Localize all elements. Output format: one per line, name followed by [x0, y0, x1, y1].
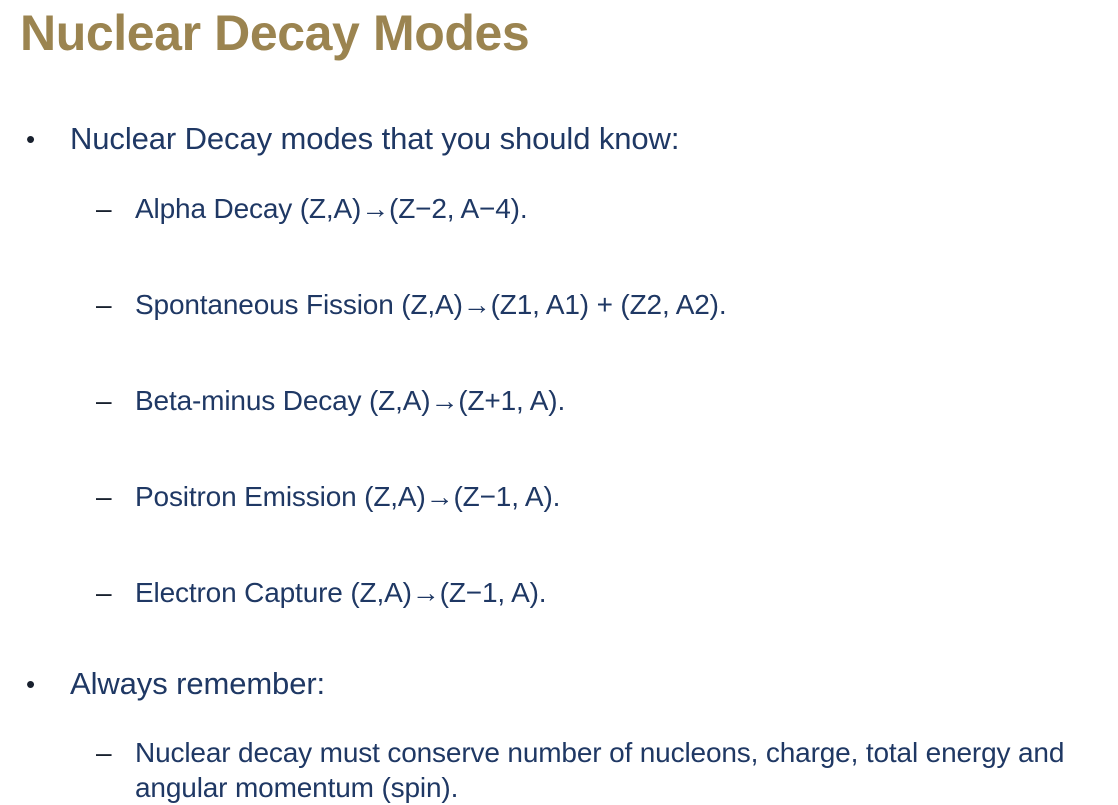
bullet-dash-icon: –	[96, 735, 111, 770]
sub-bullet-text: Electron Capture (Z,A)→(Z−1, A).	[135, 574, 1118, 612]
sub-bullet-text: Positron Emission (Z,A)→(Z−1, A).	[135, 478, 1118, 516]
bullet-text: Always remember:	[70, 666, 325, 701]
sub-bullet-text: Alpha Decay (Z,A)→(Z−2, A−4).	[135, 190, 1118, 228]
bullet-dash-icon: –	[96, 286, 111, 324]
sub-bullet-item-spontaneous-fission: – Spontaneous Fission (Z,A)→(Z1, A1) + (…	[0, 286, 1118, 353]
bullet-dash-icon: –	[96, 574, 111, 612]
bullet-dash-icon: –	[96, 382, 111, 420]
bullet-text: Nuclear Decay modes that you should know…	[70, 121, 679, 156]
sub-bullet-text: Nuclear decay must conserve number of nu…	[135, 735, 1118, 805]
bullet-dash-icon: –	[96, 478, 111, 516]
bullet-dot-icon: •	[26, 663, 35, 705]
bullet-dash-icon: –	[96, 190, 111, 228]
slide-body: • Nuclear Decay modes that you should kn…	[0, 118, 1118, 805]
sub-bullet-text: Beta-minus Decay (Z,A)→(Z+1, A).	[135, 382, 1118, 420]
sub-bullet-item-alpha-decay: – Alpha Decay (Z,A)→(Z−2, A−4).	[0, 190, 1118, 257]
page-title: Nuclear Decay Modes	[20, 2, 1080, 64]
sub-bullet-item-electron-capture: – Electron Capture (Z,A)→(Z−1, A).	[0, 574, 1118, 641]
bullet-dot-icon: •	[26, 118, 35, 160]
sub-bullet-item-conservation-note: – Nuclear decay must conserve number of …	[0, 735, 1118, 805]
sub-bullet-item-positron-emission: – Positron Emission (Z,A)→(Z−1, A).	[0, 478, 1118, 545]
sub-bullet-text: Spontaneous Fission (Z,A)→(Z1, A1) + (Z2…	[135, 286, 1118, 324]
sub-bullet-item-beta-minus-decay: – Beta-minus Decay (Z,A)→(Z+1, A).	[0, 382, 1118, 449]
bullet-item: • Nuclear Decay modes that you should kn…	[0, 118, 1118, 176]
bullet-item: • Always remember:	[0, 663, 1118, 721]
slide: Nuclear Decay Modes • Nuclear Decay mode…	[0, 0, 1118, 663]
